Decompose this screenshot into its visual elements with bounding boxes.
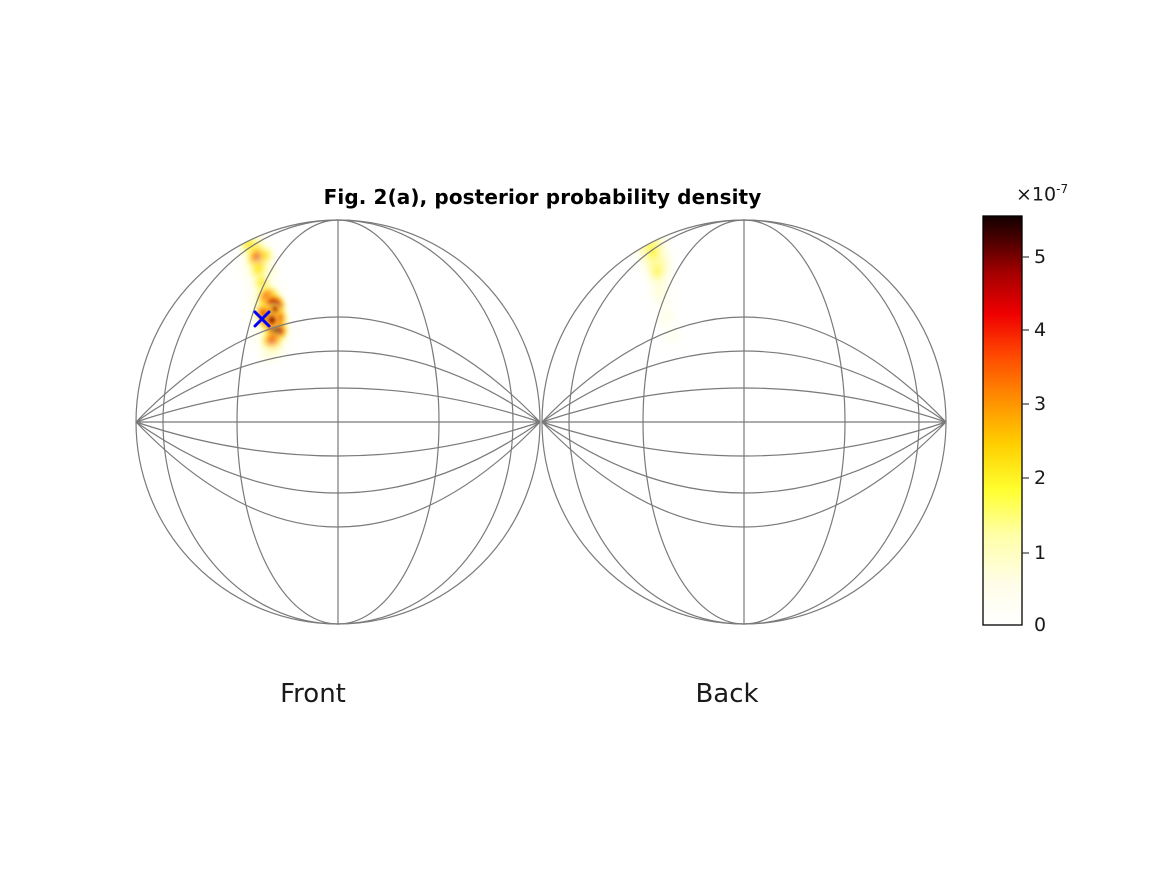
colorbar-tick-label-4: 4 bbox=[1034, 319, 1046, 341]
colorbar-exponent-base: ×10 bbox=[1016, 183, 1056, 205]
colorbar bbox=[983, 216, 1029, 625]
panel-front bbox=[136, 220, 540, 624]
figure-canvas: Fig. 2(a), posterior probability density bbox=[0, 0, 1167, 875]
colorbar-tick-label-5: 5 bbox=[1034, 246, 1046, 268]
panel-label-front: Front bbox=[233, 679, 393, 709]
front-density-field bbox=[232, 226, 300, 367]
sphere-plot bbox=[0, 0, 1167, 875]
colorbar-ticks bbox=[1022, 257, 1029, 553]
back-density-field bbox=[632, 222, 683, 350]
panel-back bbox=[542, 220, 946, 624]
colorbar-tick-label-1: 1 bbox=[1034, 542, 1046, 564]
colorbar-exponent-power: -7 bbox=[1056, 182, 1068, 196]
panel-label-back: Back bbox=[647, 679, 807, 709]
colorbar-tick-label-3: 3 bbox=[1034, 393, 1046, 415]
page-title: Fig. 2(a), posterior probability density bbox=[0, 185, 1085, 209]
colorbar-exponent: ×10-7 bbox=[1016, 182, 1068, 205]
colorbar-tick-label-0: 0 bbox=[1034, 614, 1046, 636]
colorbar-tick-label-2: 2 bbox=[1034, 467, 1046, 489]
colorbar-gradient bbox=[983, 216, 1022, 625]
